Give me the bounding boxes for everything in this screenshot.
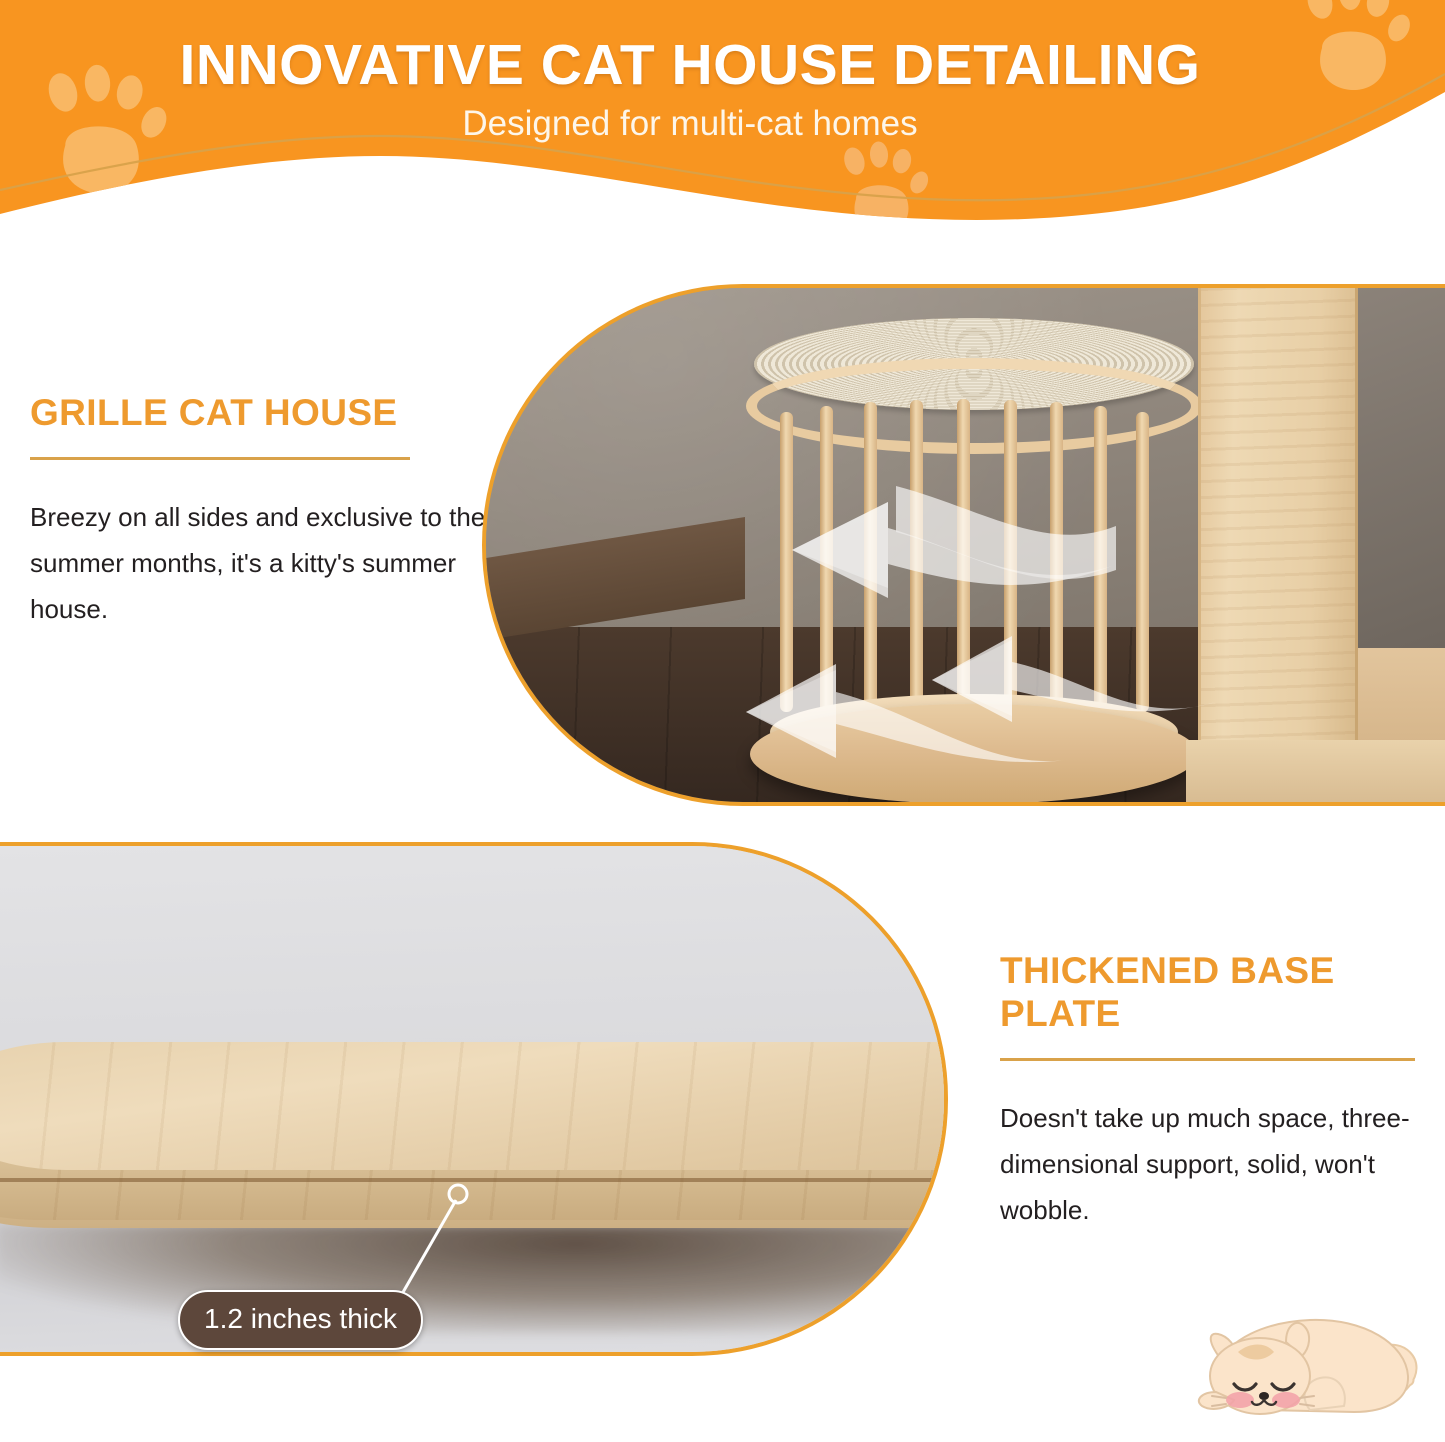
page-subtitle: Designed for multi-cat homes <box>0 104 1380 144</box>
section-body-thickened-base-plate: Doesn't take up much space, three-dimens… <box>1000 1095 1430 1234</box>
section-grille-cat-house-text: GRILLE CAT HOUSE Breezy on all sides and… <box>30 392 490 633</box>
board-seam-line <box>0 1178 948 1182</box>
page-title: INNOVATIVE CAT HOUSE DETAILING <box>0 32 1380 98</box>
board-drop-shadow <box>0 1224 948 1334</box>
section-body-grille-cat-house: Breezy on all sides and exclusive to the… <box>30 494 490 633</box>
section-thickened-base-plate-text: THICKENED BASE PLATE Doesn't take up muc… <box>1000 950 1430 1234</box>
section-divider <box>1000 1058 1415 1061</box>
sleeping-cat-icon <box>1168 1306 1438 1434</box>
section-heading-grille-cat-house: GRILLE CAT HOUSE <box>30 392 490 435</box>
photo-thickened-base-plate <box>0 842 948 1356</box>
callout-leader-line <box>380 1178 470 1308</box>
airflow-arrow-icon <box>586 640 1066 770</box>
page-header: INNOVATIVE CAT HOUSE DETAILING Designed … <box>0 0 1445 232</box>
thickness-callout-badge: 1.2 inches thick <box>178 1290 423 1350</box>
house-top-rim <box>746 358 1202 454</box>
wood-side-panel <box>1198 288 1358 768</box>
board-top-surface <box>0 1042 948 1170</box>
photo-grille-cat-house <box>482 284 1445 806</box>
section-heading-thickened-base-plate: THICKENED BASE PLATE <box>1000 950 1430 1036</box>
base-plank <box>1186 740 1445 802</box>
airflow-arrow-icon <box>596 458 1116 608</box>
section-divider <box>30 457 410 460</box>
right-room-wall <box>1358 288 1445 648</box>
